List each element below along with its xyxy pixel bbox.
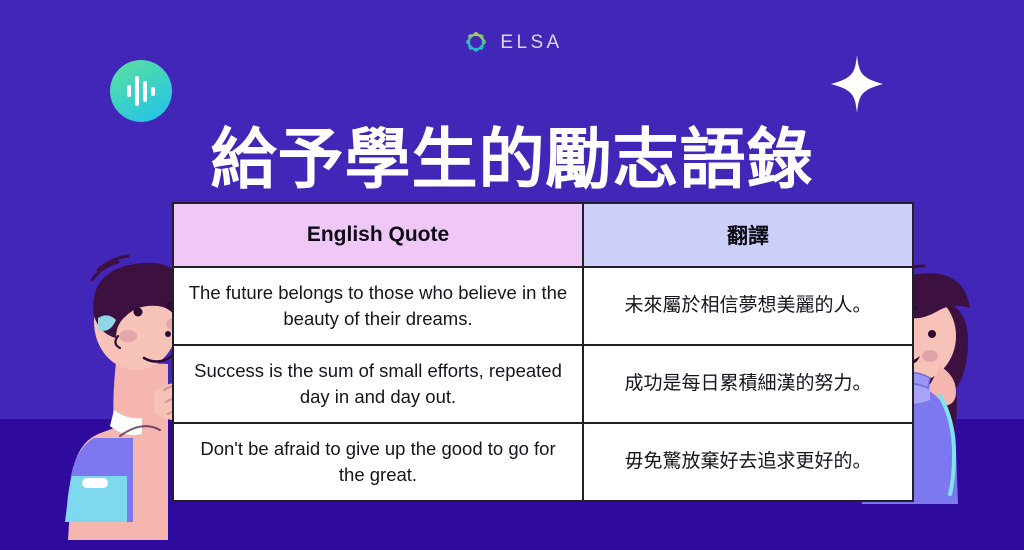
quote-translation: 未來屬於相信夢想美麗的人。 bbox=[583, 267, 913, 345]
table-row: Success is the sum of small efforts, rep… bbox=[173, 345, 913, 423]
table-row: The future belongs to those who believe … bbox=[173, 267, 913, 345]
table-row: Don't be afraid to give up the good to g… bbox=[173, 423, 913, 501]
quotes-table: English Quote 翻譯 The future belongs to t… bbox=[172, 202, 914, 502]
column-header-english: English Quote bbox=[173, 203, 583, 267]
quote-english: Success is the sum of small efforts, rep… bbox=[173, 345, 583, 423]
table-header-row: English Quote 翻譯 bbox=[173, 203, 913, 267]
elsa-flower-logo-icon bbox=[461, 27, 491, 57]
column-header-translation: 翻譯 bbox=[583, 203, 913, 267]
quote-translation: 成功是每日累積細漢的努力。 bbox=[583, 345, 913, 423]
brand-lockup: ELSA bbox=[0, 27, 1024, 57]
four-point-sparkle-icon bbox=[831, 55, 883, 113]
brand-wordmark: ELSA bbox=[500, 32, 562, 52]
page-title: 給予學生的勵志語錄 bbox=[0, 123, 1024, 197]
quote-english: The future belongs to those who believe … bbox=[173, 267, 583, 345]
quote-translation: 毋免驚放棄好去追求更好的。 bbox=[583, 423, 913, 501]
quote-english: Don't be afraid to give up the good to g… bbox=[173, 423, 583, 501]
audio-waveform-badge-icon bbox=[110, 60, 172, 122]
poster-canvas: ELSA 給予學生的勵志語錄 bbox=[0, 0, 1024, 550]
